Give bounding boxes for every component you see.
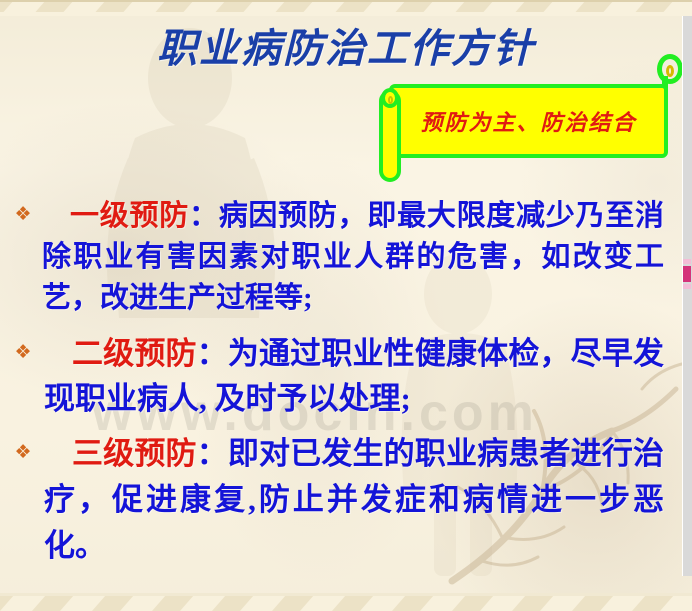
scroll-banner: 预防为主、防治结合	[375, 62, 685, 184]
bullet-text-level-3: 三级预防：即对已发生的职业病患者进行治疗，促进康复,防止并发症和病情进一步恶化。	[0, 431, 678, 569]
bullet-item-level-1: ❖ 一级预防：病因预防，即最大限度减少乃至消除职业有害因素对职业人群的危害，如改…	[0, 196, 692, 319]
diamond-bullet-icon: ❖	[12, 205, 34, 224]
bullet-text-level-2: 二级预防：为通过职业性健康体检，尽早发现职业病人, 及时予以处理;	[0, 331, 678, 421]
bullet-lead-level-2: 二级预防	[72, 336, 197, 371]
bullet-lead-level-3: 三级预防	[72, 436, 197, 471]
diamond-bullet-icon: ❖	[12, 343, 34, 362]
scroll-right-curl-icon	[657, 54, 683, 84]
bullet-text-level-1: 一级预防：病因预防，即最大限度减少乃至消除职业有害因素对职业人群的危害，如改变工…	[0, 196, 678, 319]
right-edge-strip	[682, 16, 692, 576]
scroll-banner-text: 预防为主、防治结合	[389, 84, 668, 158]
slide-canvas: www.docin.com 职业病防治工作方针 预防为主、防治结合 ❖ 一级预防…	[0, 0, 692, 611]
bullet-lead-level-1: 一级预防	[70, 200, 189, 232]
scrollbar-thumb[interactable]	[683, 266, 691, 282]
bullet-item-level-2: ❖ 二级预防：为通过职业性健康体检，尽早发现职业病人, 及时予以处理;	[0, 331, 692, 421]
bullet-item-level-3: ❖ 三级预防：即对已发生的职业病患者进行治疗，促进康复,防止并发症和病情进一步恶…	[0, 431, 692, 569]
diamond-bullet-icon: ❖	[12, 443, 34, 462]
top-decorative-band	[0, 0, 692, 16]
bottom-decorative-band	[0, 593, 692, 611]
body-content: ❖ 一级预防：病因预防，即最大限度减少乃至消除职业有害因素对职业人群的危害，如改…	[0, 196, 692, 573]
